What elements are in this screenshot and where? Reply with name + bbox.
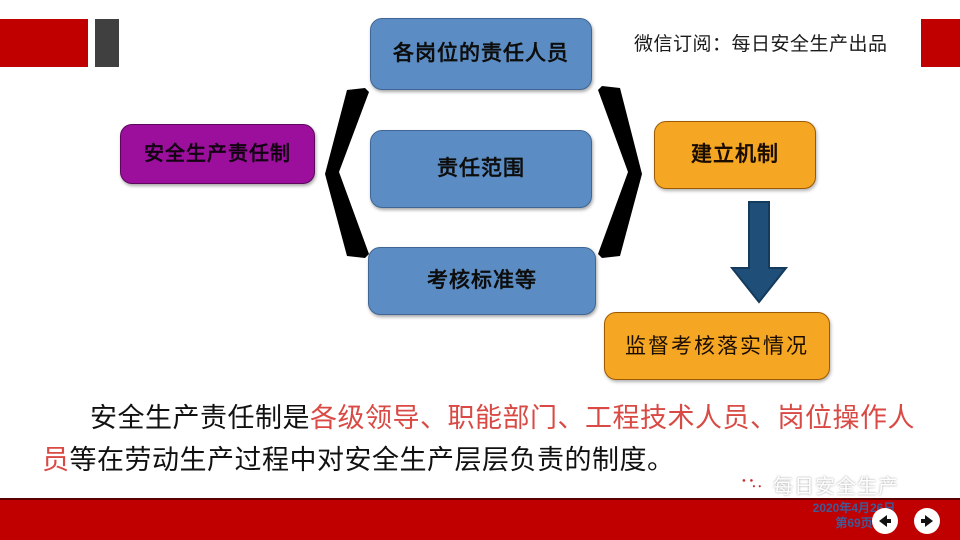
header-caption: 微信订阅：每日安全生产出品 [634, 29, 888, 56]
box-establish-mechanism: 建立机制 [654, 121, 816, 189]
down-arrow-icon [724, 200, 794, 305]
watermark-label: 每日安全生产 [773, 470, 899, 499]
body-segment-3: 等在劳动生产过程中对安全生产层层负责的制度。 [70, 445, 675, 475]
left-bracket-icon [325, 88, 375, 258]
slide-canvas: 微信订阅：每日安全生产出品 安全生产责任制 各岗位的责任人员 责任范围 考核标准… [0, 0, 960, 540]
watermark: 每日安全生产 [736, 470, 899, 499]
arrow-left-icon [878, 514, 892, 528]
box-supervise-assessment-implementation: 监督考核落实情况 [604, 312, 830, 380]
box-safety-responsibility-system: 安全生产责任制 [120, 124, 315, 184]
wechat-icon [736, 472, 766, 498]
arrow-right-icon [920, 514, 934, 528]
right-bracket-icon [592, 86, 642, 258]
decor-bar-red-left [0, 19, 88, 67]
box-post-responsible-persons: 各岗位的责任人员 [370, 18, 592, 90]
decor-bar-gray [95, 19, 119, 67]
box-assessment-standards: 考核标准等 [368, 247, 596, 315]
next-page-button[interactable] [914, 508, 940, 534]
box-responsibility-scope: 责任范围 [370, 130, 592, 208]
body-segment-1: 安全生产责任制是 [90, 403, 310, 433]
prev-page-button[interactable] [872, 508, 898, 534]
decor-bar-red-right [921, 19, 960, 67]
